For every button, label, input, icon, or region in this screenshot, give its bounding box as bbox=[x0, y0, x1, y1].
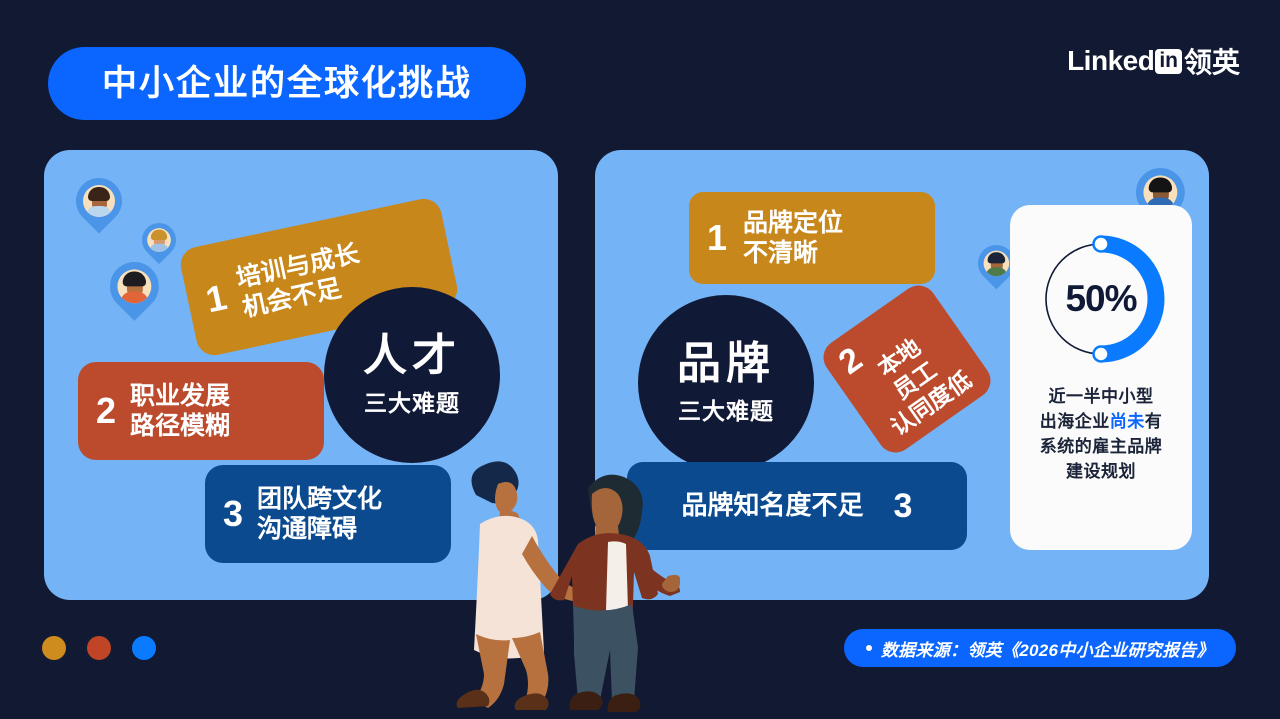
stat-card: 50% 近一半中小型 出海企业尚未有 系统的雇主品牌 建设规划 bbox=[1010, 205, 1192, 550]
avatar-hair bbox=[1149, 178, 1172, 193]
dot-blue bbox=[132, 636, 156, 660]
stat-caption-highlight: 尚未 bbox=[1110, 412, 1145, 431]
map-pin-avatar-1 bbox=[76, 178, 122, 238]
source-note: 数据来源：领英《2026中小企业研究报告》 bbox=[844, 629, 1236, 667]
talent-hub-subtitle: 三大难题 bbox=[364, 384, 460, 418]
donut-chart: 50% bbox=[1032, 230, 1170, 368]
logo-wordmark: Linked bbox=[1067, 45, 1154, 77]
avatar-hair bbox=[88, 187, 110, 201]
page-title-text: 中小企业的全球化挑战 bbox=[102, 66, 472, 101]
dot-gold bbox=[42, 636, 66, 660]
avatar-shirt bbox=[86, 206, 112, 217]
linkedin-in-icon: in bbox=[1155, 49, 1182, 74]
talent-card-2-number: 2 bbox=[96, 393, 116, 429]
map-pin-avatar-3 bbox=[110, 262, 159, 326]
linkedin-logo: Linked in 领英 bbox=[1067, 45, 1240, 77]
bullet-icon bbox=[866, 645, 872, 651]
brand-card-1-label: 品牌定位 不清晰 bbox=[743, 208, 843, 269]
donut-percent-label: 50% bbox=[1032, 230, 1170, 368]
brand-card-1[interactable]: 1 品牌定位 不清晰 bbox=[689, 192, 935, 284]
brand-card-3-label: 品牌知名度不足 bbox=[682, 490, 864, 522]
brand-hub-subtitle: 三大难题 bbox=[678, 392, 774, 426]
brand-card-3-number: 3 bbox=[894, 489, 913, 523]
infographic-canvas: 中小企业的全球化挑战 Linked in 领英 bbox=[0, 0, 1280, 719]
talent-card-2[interactable]: 2 职业发展 路径模糊 bbox=[78, 362, 324, 460]
talent-hub-title: 人才 bbox=[363, 332, 461, 380]
avatar bbox=[117, 269, 151, 303]
page-title: 中小企业的全球化挑战 bbox=[48, 47, 526, 120]
brand-card-1-number: 1 bbox=[707, 220, 727, 256]
stat-card-caption: 近一半中小型 出海企业尚未有 系统的雇主品牌 建设规划 bbox=[1040, 384, 1163, 485]
talent-card-3[interactable]: 3 团队跨文化 沟通障碍 bbox=[205, 465, 451, 563]
talent-card-1-label: 培训与成长 机会不足 bbox=[233, 238, 368, 324]
talent-card-3-number: 3 bbox=[223, 496, 243, 532]
people-illustration bbox=[440, 440, 680, 719]
avatar-hair bbox=[151, 230, 167, 240]
avatar bbox=[984, 251, 1010, 277]
decorative-dots bbox=[42, 636, 156, 660]
dot-red bbox=[87, 636, 111, 660]
avatar-shirt bbox=[986, 267, 1007, 276]
brand-hub-title: 品牌 bbox=[677, 340, 775, 388]
map-pin-avatar-2 bbox=[142, 223, 176, 267]
avatar-hair bbox=[988, 252, 1006, 263]
talent-card-1-number: 1 bbox=[203, 279, 230, 318]
source-note-text: 数据来源：领英《2026中小企业研究报告》 bbox=[881, 636, 1214, 661]
logo-chinese-name: 领英 bbox=[1184, 41, 1240, 81]
talent-card-2-label: 职业发展 路径模糊 bbox=[130, 381, 230, 442]
avatar-shirt bbox=[121, 292, 149, 304]
talent-card-3-label: 团队跨文化 沟通障碍 bbox=[257, 484, 382, 545]
avatar bbox=[83, 185, 115, 217]
avatar-shirt bbox=[149, 244, 168, 252]
avatar bbox=[147, 228, 171, 252]
avatar-hair bbox=[123, 272, 146, 287]
talent-hub-circle: 人才 三大难题 bbox=[324, 287, 500, 463]
